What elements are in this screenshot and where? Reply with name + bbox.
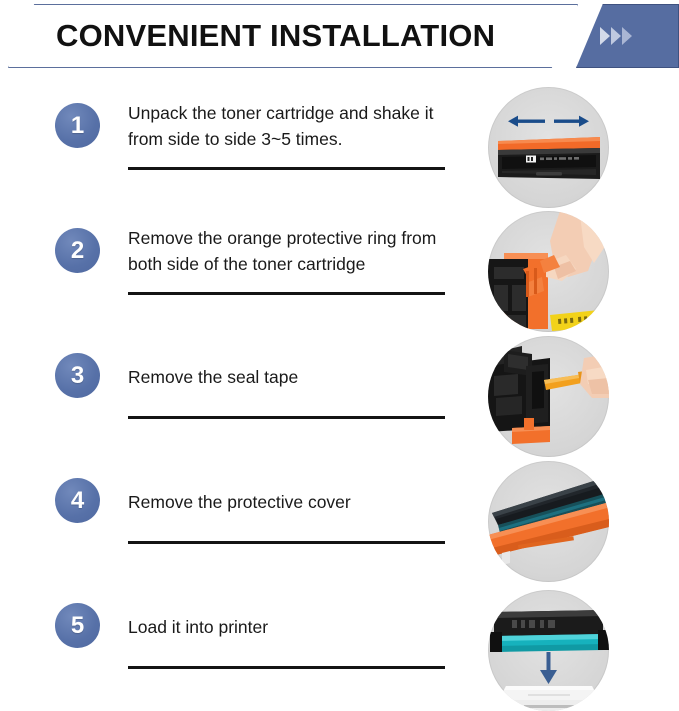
hand [546,211,606,281]
step-divider [128,416,445,419]
step-number-badge: 5 [55,603,100,648]
step-number-badge: 3 [55,353,100,398]
yellow-label [550,309,609,331]
arrow-right-icon [554,116,589,127]
step-divider [128,167,445,170]
step-image-remove-protective-ring [488,211,609,332]
page-title: CONVENIENT INSTALLATION [56,4,495,68]
arrow-down-icon [540,652,557,684]
step-number-badge: 2 [55,228,100,273]
step-description: Load it into printer [128,614,468,640]
step-divider [128,292,445,295]
arrow-left-icon [508,116,545,127]
step-description: Remove the orange protective ring from b… [128,225,468,277]
step-image-load-into-printer [488,590,609,711]
list-item: 1 Unpack the toner cartridge and shake i… [0,84,679,209]
step-divider [128,541,445,544]
step-divider [128,666,445,669]
list-item: 4 Remove the protective cover [0,459,679,584]
step-description: Unpack the toner cartridge and shake it … [128,100,468,152]
header-banner: CONVENIENT INSTALLATION [0,4,679,70]
chevron-right-icon-group [600,24,664,48]
list-item: 5 Load it into printer [0,584,679,709]
step-number-badge: 1 [55,103,100,148]
list-item: 2 Remove the orange protective ring from… [0,209,679,334]
step-image-shake-cartridge [488,87,609,208]
step-description: Remove the seal tape [128,364,468,390]
chevron-right-icon [622,27,632,45]
list-item: 3 Remove the seal tape [0,334,679,459]
step-number-badge: 4 [55,478,100,523]
chevron-right-icon [611,27,621,45]
step-image-remove-protective-cover [488,461,609,582]
step-description: Remove the protective cover [128,489,468,515]
step-image-remove-seal-tape [488,336,609,457]
installation-steps-list: 1 Unpack the toner cartridge and shake i… [0,84,679,710]
chevron-right-icon [600,27,610,45]
hand [580,354,609,398]
